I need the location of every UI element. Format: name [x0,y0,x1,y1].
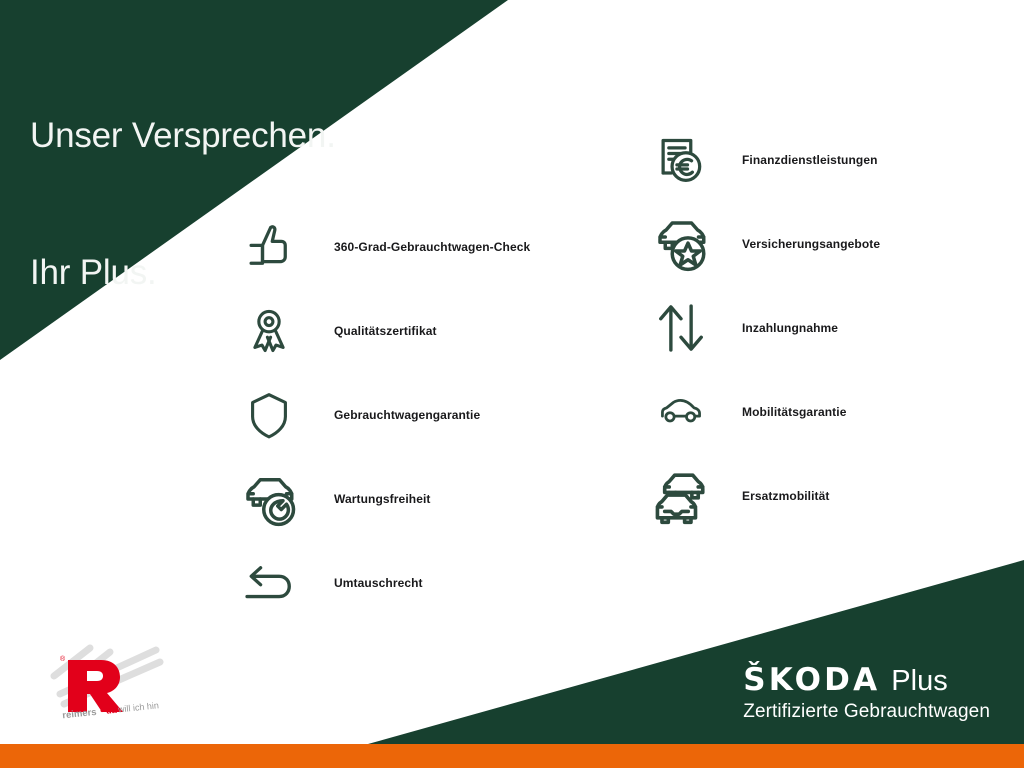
feature-item-wartungsfreiheit: Wartungsfreiheit [236,457,530,541]
skoda-wordmark: ŠKODA [743,665,880,696]
feature-item-qualitaetszertifikat: Qualitätszertifikat [236,289,530,373]
feature-item-mobilitaetsgarantie: Mobilitätsgarantie [648,370,880,454]
logo-tagline-accent: da [106,705,118,716]
slide-canvas: Unser Versprechen. Ihr Plus. 360-Grad-Ge… [0,0,1024,768]
feature-column-right: Finanzdienstleistungen Versicherungsange… [648,118,880,538]
feature-item-finanzdienstleistungen: Finanzdienstleistungen [648,118,880,202]
skoda-plus-brand-lockup: ŠKODA Plus Zertifizierte Gebrauchtwagen [743,665,990,721]
feature-item-ersatzmobilitaet: Ersatzmobilität [648,454,880,538]
feature-label: Gebrauchtwagengarantie [334,408,480,422]
car-star-icon [648,211,714,277]
logo-registered-mark: ® [60,655,66,663]
award-rosette-icon [236,298,302,364]
feature-item-umtauschrecht: Umtauschrecht [236,541,530,625]
logo-tagline: will ich hin [117,700,160,714]
feature-item-360-check: 360-Grad-Gebrauchtwagen-Check [236,205,530,289]
return-arrow-icon [236,550,302,616]
feature-item-inzahlungnahme: Inzahlungnahme [648,286,880,370]
feature-label: Ersatzmobilität [742,489,830,503]
logo-dealer-name: reimers [62,707,97,720]
car-wrench-icon [236,466,302,532]
plus-wordmark: Plus [891,667,947,696]
two-cars-icon [648,463,714,529]
document-euro-icon [648,127,714,193]
thumbs-up-icon [236,214,302,280]
feature-column-left: 360-Grad-Gebrauchtwagen-Check Qualitätsz… [236,205,530,625]
feature-label: Qualitätszertifikat [334,324,437,338]
car-side-icon [648,379,714,445]
headline-line-1: Unser Versprechen. [30,113,336,159]
skoda-plus-subline: Zertifizierte Gebrauchtwagen [743,702,990,721]
feature-label: Wartungsfreiheit [334,492,431,506]
feature-label: Versicherungsangebote [742,237,880,251]
feature-label: 360-Grad-Gebrauchtwagen-Check [334,240,530,254]
up-down-arrows-icon [648,295,714,361]
feature-label: Umtauschrecht [334,576,423,590]
feature-item-gebrauchtwagengarantie: Gebrauchtwagengarantie [236,373,530,457]
skoda-plus-wordmark-row: ŠKODA Plus [743,665,990,696]
shield-icon [236,382,302,448]
feature-label: Finanzdienstleistungen [742,153,878,167]
orange-footer-bar [0,744,1024,768]
feature-item-versicherungsangebote: Versicherungsangebote [648,202,880,286]
feature-label: Inzahlungnahme [742,321,838,335]
reimers-dealer-logo: ® reimers • da will ich hin [38,642,170,720]
feature-label: Mobilitätsgarantie [742,405,846,419]
